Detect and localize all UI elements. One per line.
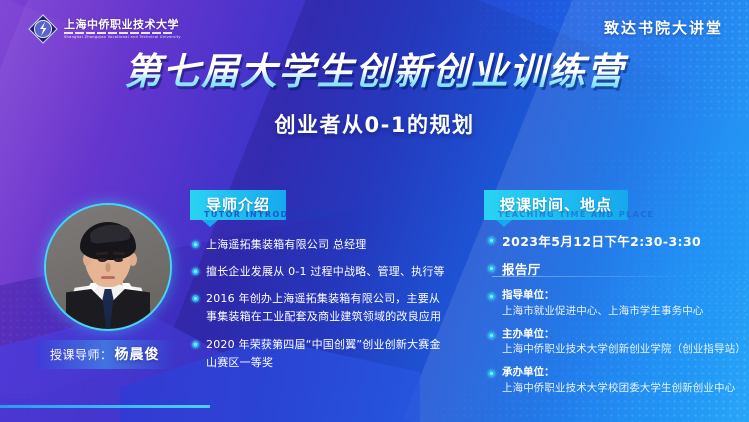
schedule-datetime: 2023年5月12日下午2:30-3:30 bbox=[502, 232, 701, 253]
schedule-heading-group: 授课时间、地点 TEACHING TIME AND PLACE bbox=[484, 190, 628, 220]
organizer-entry: 承办单位： 上海中侨职业技术大学校团委大学生创新创业中心 bbox=[502, 365, 735, 397]
organizer-entry: 主办单位： 上海中侨职业技术大学创新创业学院（创业指导站） bbox=[502, 327, 744, 359]
university-logo: 上海中侨职业技术大学 Shanghai Zhongqiao Vocational… bbox=[28, 14, 181, 44]
organizer-value: 上海中侨职业技术大学校团委大学生创新创业中心 bbox=[502, 381, 735, 397]
list-item: 2016 年创办上海遥拓集装箱有限公司，主要从事集装箱在工业配套及商业建筑领域的… bbox=[192, 290, 448, 326]
list-item-text: 上海遥拓集装箱有限公司 总经理 bbox=[206, 236, 367, 254]
decor-bottom-left-line bbox=[0, 405, 210, 408]
bullet-dot-icon bbox=[488, 293, 495, 300]
university-name-cn: 上海中侨职业技术大学 bbox=[64, 19, 181, 31]
avatar-nose bbox=[106, 263, 111, 272]
bullet-dot-icon bbox=[488, 265, 495, 272]
logo-divider-bars bbox=[64, 32, 181, 34]
schedule-list: 2023年5月12日下午2:30-3:30 报告厅 bbox=[488, 232, 738, 287]
list-item-text: 2020 年荣获第四届“中国创翼”创业创新大赛金山赛区一等奖 bbox=[206, 336, 448, 372]
speaker-name-bar: 授课导师： 杨晨俊 bbox=[36, 340, 174, 369]
list-item: 2023年5月12日下午2:30-3:30 bbox=[488, 232, 738, 253]
organizer-label: 主办单位： bbox=[502, 327, 744, 343]
avatar-mouth bbox=[101, 276, 115, 279]
page-subtitle-bar: 创业者从0-1的规划 bbox=[249, 104, 501, 145]
bullet-dot-icon bbox=[488, 370, 495, 377]
organizer-value: 上海中侨职业技术大学创新创业学院（创业指导站） bbox=[502, 342, 744, 358]
speaker-name-label: 授课导师： bbox=[50, 346, 113, 363]
university-logo-text: 上海中侨职业技术大学 Shanghai Zhongqiao Vocational… bbox=[64, 19, 181, 39]
list-item: 上海遥拓集装箱有限公司 总经理 bbox=[192, 236, 448, 254]
bullet-dot-icon bbox=[192, 341, 199, 348]
avatar-eye-left bbox=[98, 258, 107, 262]
section-divider bbox=[492, 276, 692, 277]
organizer-label: 承办单位： bbox=[502, 365, 735, 381]
bullet-dot-icon bbox=[192, 295, 199, 302]
lecture-series-title: 致达书院大讲堂 bbox=[604, 17, 723, 38]
speaker-avatar bbox=[44, 203, 172, 331]
speaker-name-value: 杨晨俊 bbox=[115, 344, 160, 364]
bullet-dot-icon bbox=[192, 268, 199, 275]
list-item: 2020 年荣获第四届“中国创翼”创业创新大赛金山赛区一等奖 bbox=[192, 336, 448, 372]
tutor-section-header: 导师介绍 TUTOR INTRODUCTION bbox=[190, 190, 286, 220]
list-item: 报告厅 bbox=[488, 260, 738, 281]
organizer-list: 指导单位： 上海市就业促进中心、上海市学生事务中心 主办单位： 上海中侨职业技术… bbox=[488, 288, 744, 404]
tutor-bullet-list: 上海遥拓集装箱有限公司 总经理 擅长企业发展从 0-1 过程中战略、管理、执行等… bbox=[192, 236, 448, 381]
university-emblem-icon bbox=[28, 14, 58, 44]
page-title: 第七届大学生创新创业训练营 bbox=[0, 52, 749, 93]
organizer-value: 上海市就业促进中心、上海市学生事务中心 bbox=[502, 304, 703, 320]
list-item: 承办单位： 上海中侨职业技术大学校团委大学生创新创业中心 bbox=[488, 365, 744, 397]
list-item-text: 擅长企业发展从 0-1 过程中战略、管理、执行等 bbox=[206, 263, 445, 281]
organizer-entry: 指导单位： 上海市就业促进中心、上海市学生事务中心 bbox=[502, 288, 703, 320]
tutor-heading-group: 导师介绍 TUTOR INTRODUCTION bbox=[190, 190, 286, 220]
avatar-eye-right bbox=[114, 258, 123, 262]
schedule-section-header: 授课时间、地点 TEACHING TIME AND PLACE bbox=[484, 190, 628, 220]
organizer-label: 指导单位： bbox=[502, 288, 703, 304]
university-name-en: Shanghai Zhongqiao Vocational and Techni… bbox=[64, 35, 181, 39]
list-item-text: 2016 年创办上海遥拓集装箱有限公司，主要从事集装箱在工业配套及商业建筑领域的… bbox=[206, 290, 448, 326]
tutor-heading-en: TUTOR INTRODUCTION bbox=[204, 210, 331, 219]
bullet-dot-icon bbox=[192, 241, 199, 248]
list-item: 擅长企业发展从 0-1 过程中战略、管理、执行等 bbox=[192, 263, 448, 281]
schedule-venue: 报告厅 bbox=[502, 260, 541, 281]
poster-root: 上海中侨职业技术大学 Shanghai Zhongqiao Vocational… bbox=[0, 0, 749, 422]
schedule-heading-en: TEACHING TIME AND PLACE bbox=[498, 210, 654, 219]
list-item: 指导单位： 上海市就业促进中心、上海市学生事务中心 bbox=[488, 288, 744, 320]
bullet-dot-icon bbox=[488, 332, 495, 339]
list-item: 主办单位： 上海中侨职业技术大学创新创业学院（创业指导站） bbox=[488, 327, 744, 359]
page-subtitle: 创业者从0-1的规划 bbox=[275, 113, 475, 137]
bullet-dot-icon bbox=[488, 237, 495, 244]
